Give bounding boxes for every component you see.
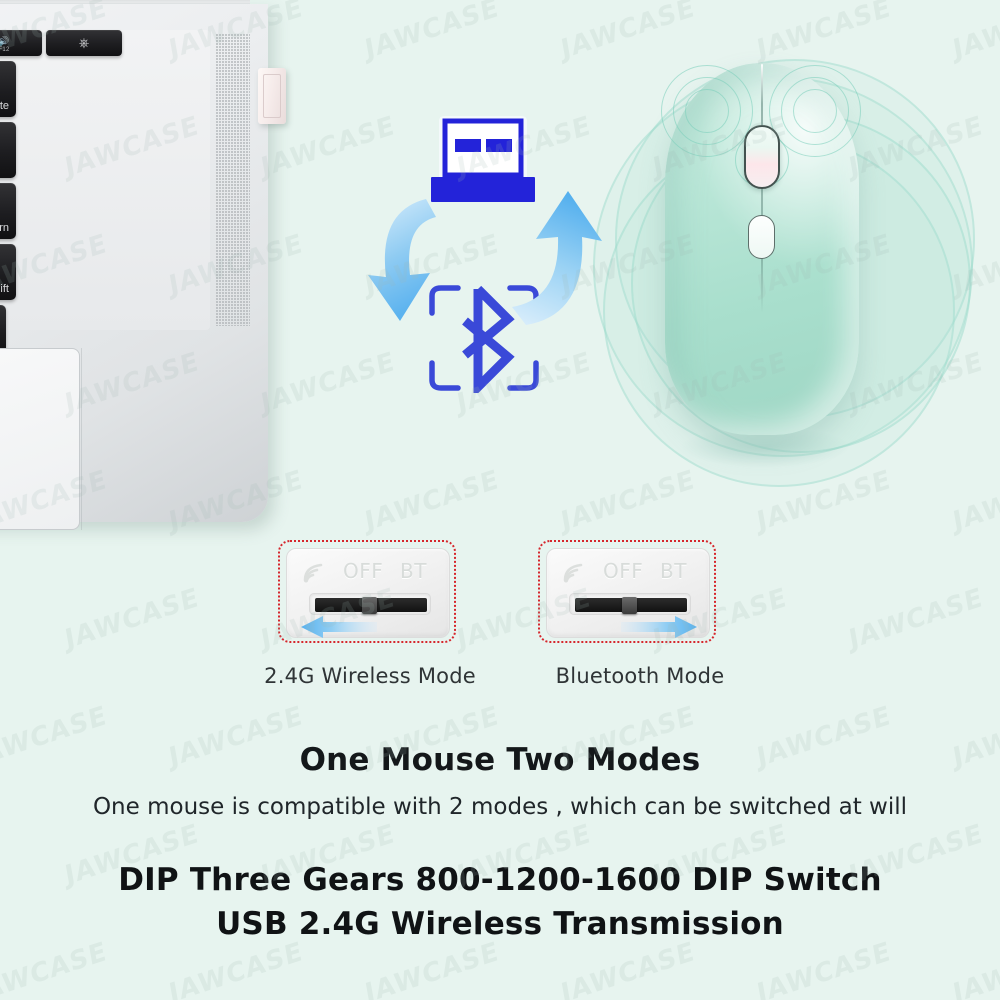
key-backslash-bottom: \ [0,151,16,168]
palmrest-seam [81,348,82,530]
watermark-text: JAWCASE [847,582,985,655]
key-f12[interactable]: 🔊 F12 [0,30,42,56]
arrow-curve-down [366,195,486,325]
switch-label-off-1: OFF [343,559,383,583]
spec-block: DIP Three Gears 800-1200-1600 DIP Switch… [0,858,1000,946]
switch-plate-1: OFF BT [286,548,450,638]
switch-arrow-right [621,615,699,639]
laptop: ▸ 9 🔇 F10 🔈 F11 🔊 F12 ⎈ ) 0 [0,0,270,538]
spec-line-2: USB 2.4G Wireless Transmission [0,902,1000,946]
wifi-icon [561,561,589,585]
spec-line-1: DIP Three Gears 800-1200-1600 DIP Switch [0,858,1000,902]
wifi-icon [301,561,329,585]
key-return[interactable]: return [0,183,16,239]
switch-2-4g-block: OFF BT [278,540,468,643]
headline: One Mouse Two Modes [0,742,1000,778]
mode-icon-group [370,95,620,405]
key-shift[interactable]: shift [0,244,16,300]
volume-up-icon: 🔊 [0,36,42,47]
headline-block: One Mouse Two Modes One mouse is compati… [0,742,1000,820]
mouse-body[interactable] [665,63,859,435]
subline: One mouse is compatible with 2 modes , w… [0,794,1000,820]
watermark-text: JAWCASE [63,582,201,655]
trackpad[interactable] [0,348,80,530]
switch-label-off-2: OFF [603,559,643,583]
usb-receiver-dongle [258,68,286,124]
switch-knob-1[interactable] [362,597,377,614]
key-power[interactable]: ⎈ [46,30,122,56]
switch-highlight-box-2: OFF BT [538,540,716,643]
arrow-curve-up [490,189,620,329]
mouse-illustration [585,35,1000,520]
switch-bluetooth-block: OFF BT [538,540,728,643]
key-delete[interactable]: delete [0,61,16,117]
caret-right-icon: ▸ [0,325,6,336]
switch-arrow-left [299,615,377,639]
switch-track-2[interactable] [569,593,691,615]
switch-track-1[interactable] [309,593,431,615]
keyboard-deck: ▸ 9 🔇 F10 🔈 F11 🔊 F12 ⎈ ) 0 [0,30,210,330]
key-return-label: return [0,222,9,234]
switch-plate-2: OFF BT [546,548,710,638]
switch-caption-1: 2.4G Wireless Mode [240,664,500,688]
scroll-wheel[interactable] [744,125,780,189]
watermark-text: JAWCASE [363,0,501,66]
key-backslash-top: | [0,129,16,146]
switch-highlight-box-1: OFF BT [278,540,456,643]
switch-labels-2: OFF BT [547,557,711,587]
key-backslash[interactable]: | \ [0,122,16,178]
laptop-base: ▸ 9 🔇 F10 🔈 F11 🔊 F12 ⎈ ) 0 [0,4,268,522]
switch-label-bt-1: BT [400,559,427,583]
key-shift-label: shift [0,283,9,295]
switch-labels-1: OFF BT [287,557,451,587]
key-delete-label: delete [0,100,9,112]
switch-knob-2[interactable] [622,597,637,614]
power-icon: ⎈ [46,35,122,51]
dpi-button[interactable] [748,215,775,259]
switch-caption-2: Bluetooth Mode [510,664,770,688]
key-f12-label: F12 [0,47,42,53]
switch-label-bt-2: BT [660,559,687,583]
click-wave-right-3 [793,89,837,133]
click-wave-left-3 [685,89,729,133]
speaker-grille-right [216,34,250,326]
watermark-text: JAWCASE [363,464,501,537]
